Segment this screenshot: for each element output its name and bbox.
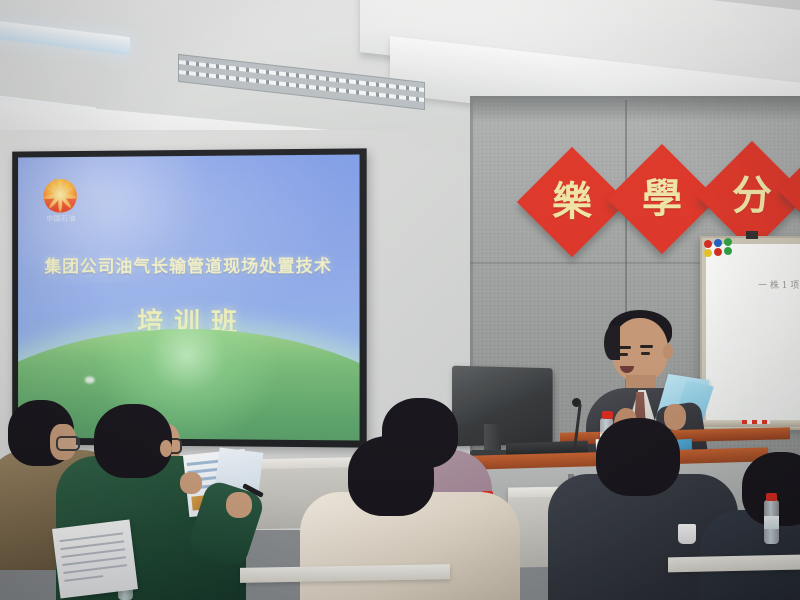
- presenter-brow: [618, 346, 631, 349]
- magnet-blue[interactable]: [714, 239, 722, 247]
- presenter-hand-right: [664, 404, 686, 430]
- placard-character: 學: [642, 179, 682, 219]
- magnet-yellow[interactable]: [704, 249, 712, 257]
- magnet-green-2[interactable]: [724, 247, 732, 255]
- lcd-monitor: [452, 366, 553, 447]
- eyeglasses: [56, 436, 80, 451]
- magnet-red[interactable]: [704, 240, 712, 248]
- whiteboard-clip[interactable]: [746, 231, 758, 239]
- presenter-eye: [641, 352, 650, 355]
- bottle-cap: [602, 411, 613, 419]
- attendee-green-sweater-hand-left: [180, 472, 202, 494]
- slide-title: 集团公司油气长输管道现场处置技术: [18, 256, 359, 279]
- presenter-ear: [663, 344, 673, 359]
- logo-caption: 中国石油: [34, 215, 89, 224]
- magnet-red-2[interactable]: [714, 248, 722, 256]
- projection-screen: 中国石油 集团公司油气长输管道现场处置技术 培训班: [18, 154, 359, 440]
- air-vent-grille: [178, 54, 425, 110]
- slide-highlight: [85, 376, 95, 383]
- presenter-hair-side: [604, 326, 620, 360]
- bottle-label: [764, 516, 779, 529]
- attendee-green-sweater-ear: [160, 440, 172, 457]
- audience-desk-front-right: [668, 555, 800, 573]
- ceiling-light-troffer-left: [0, 19, 130, 55]
- attendee-dark-suit-center-head: [596, 418, 680, 496]
- seminar-photo: 中国石油 集团公司油气长输管道现场处置技术 培训班 樂 學 分 享 一 株 1 …: [0, 0, 800, 600]
- attendee-green-sweater-hand: [226, 492, 252, 518]
- whiteboard-handwriting: 一 株 1 项: [758, 280, 800, 314]
- bottle-cap: [766, 493, 777, 501]
- presenter-eye: [619, 353, 628, 356]
- whiteboard[interactable]: 一 株 1 项: [700, 236, 800, 430]
- placard-character: 分: [732, 176, 772, 216]
- presenter-brow: [640, 345, 653, 348]
- handout-papers: [52, 520, 138, 599]
- whiteboard-surface[interactable]: 一 株 1 项: [706, 244, 800, 420]
- projection-screen-frame: 中国石油 集团公司油气长输管道现场处置技术 培训班: [12, 148, 366, 447]
- petrochina-logo: [44, 179, 77, 213]
- wall-top-shadow: [470, 96, 800, 122]
- attendee-green-sweater-head: [94, 404, 172, 478]
- paper-cup: [678, 524, 696, 544]
- dry-erase-marker[interactable]: [742, 420, 770, 424]
- presenter-head: [612, 318, 668, 382]
- magnet-green[interactable]: [724, 238, 732, 246]
- water-bottle-right: [764, 500, 779, 544]
- placard-character: 樂: [552, 182, 592, 222]
- attendee-cream-jacket-head: [348, 436, 434, 516]
